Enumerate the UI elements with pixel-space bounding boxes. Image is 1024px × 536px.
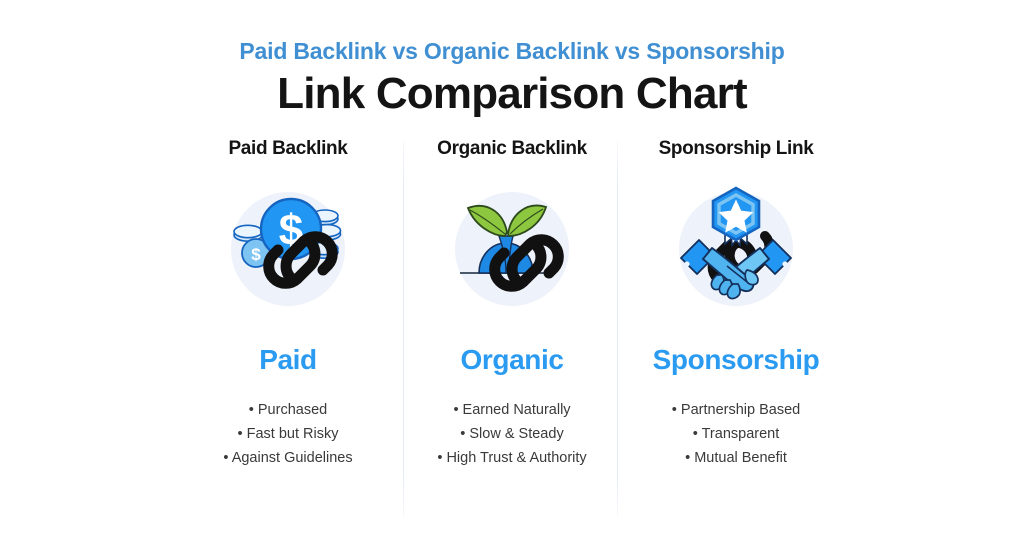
column-header-sponsorship: Sponsorship Link [659,138,814,160]
bullet-text: Earned Naturally [463,402,571,418]
bullet-text: High Trust & Authority [446,450,586,466]
bullet-text: Mutual Benefit [694,450,787,466]
bullet-list-sponsorship: • Partnership Based • Transparent • Mutu… [672,398,800,471]
bullet-text: Transparent [702,426,780,442]
bullet-text: Purchased [258,402,327,418]
column-divider-2 [617,140,618,518]
bullet-marker: • [460,426,465,442]
bullet-marker: • [249,402,254,418]
bullet-marker: • [693,426,698,442]
column-label-paid: Paid [259,344,317,376]
bullet-marker: • [238,426,243,442]
list-item: • Earned Naturally [437,398,586,422]
bullet-list-organic: • Earned Naturally • Slow & Steady • Hig… [437,398,586,471]
list-item: • Against Guidelines [223,446,352,470]
dollar-coin-chain-link-icon: $ $ [213,174,363,324]
svg-text:$: $ [251,245,261,264]
list-item: • Purchased [223,398,352,422]
comparison-columns: Paid Backlink [0,138,1024,471]
list-item: • Slow & Steady [437,422,586,446]
column-label-sponsorship: Sponsorship [653,344,820,376]
list-item: • Transparent [672,422,800,446]
bullet-marker: • [453,402,458,418]
list-item: • Mutual Benefit [672,446,800,470]
column-header-organic: Organic Backlink [437,138,587,160]
bullet-marker: • [685,450,690,466]
column-label-organic: Organic [460,344,563,376]
bullet-text: Partnership Based [681,402,800,418]
infographic-root: Paid Backlink vs Organic Backlink vs Spo… [0,0,1024,536]
bullet-text: Fast but Risky [247,426,339,442]
list-item: • Fast but Risky [223,422,352,446]
column-header-paid: Paid Backlink [228,138,347,160]
list-item: • Partnership Based [672,398,800,422]
bullet-marker: • [437,450,442,466]
header: Paid Backlink vs Organic Backlink vs Spo… [0,0,1024,118]
bullet-list-paid: • Purchased • Fast but Risky • Against G… [223,398,352,471]
page-title: Link Comparison Chart [0,71,1024,117]
column-paid-backlink: Paid Backlink [176,138,400,471]
column-divider-1 [403,140,404,518]
bullet-marker: • [672,402,677,418]
list-item: • High Trust & Authority [437,446,586,470]
subtitle: Paid Backlink vs Organic Backlink vs Spo… [0,38,1024,64]
column-sponsorship-link: Sponsorship Link [624,138,848,471]
bullet-text: Against Guidelines [232,450,353,466]
handshake-badge-chain-link-icon [661,174,811,324]
bullet-text: Slow & Steady [469,426,563,442]
bullet-marker: • [223,450,228,466]
column-organic-backlink: Organic Backlink [400,138,624,471]
sprout-plant-chain-link-icon [437,174,587,324]
